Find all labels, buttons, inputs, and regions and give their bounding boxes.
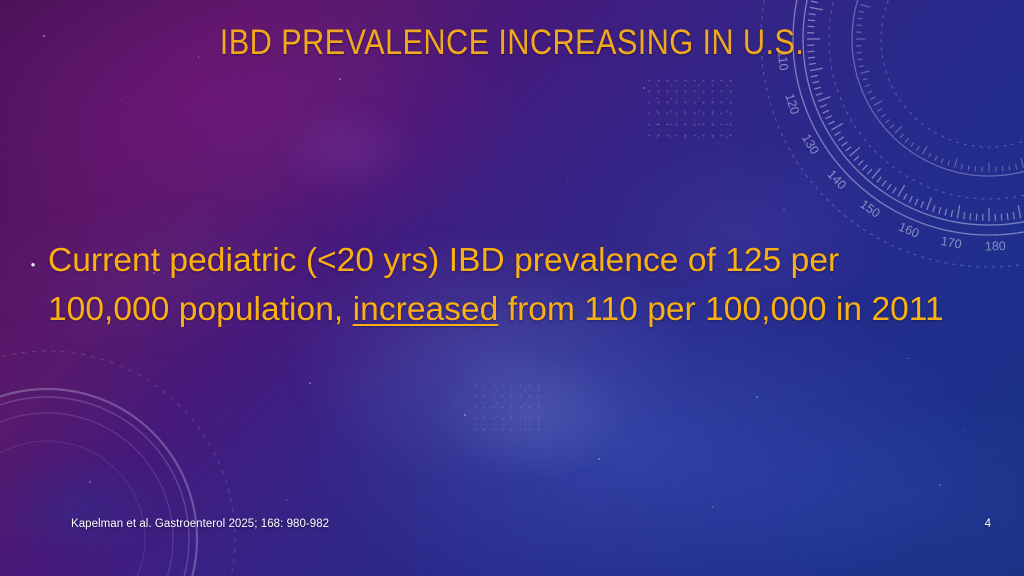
protractor-degree-label: 150 (858, 197, 883, 220)
protractor-degree-label: 140 (825, 167, 849, 192)
concentric-arc-graphic (0, 374, 212, 576)
protractor-degree-label: 120 (782, 92, 802, 116)
list-item: • Current pediatric (<20 yrs) IBD preval… (18, 236, 952, 334)
slide-body: • Current pediatric (<20 yrs) IBD preval… (18, 236, 952, 334)
star-cluster-upper (645, 75, 735, 145)
protractor-degree-label: 180 (985, 239, 1006, 254)
presentation-slide: 110120130140150160170180190 IBD PREV (0, 0, 1024, 576)
bullet-item-text: Current pediatric (<20 yrs) IBD prevalen… (48, 236, 952, 334)
star-cluster-lower (471, 380, 541, 438)
bullet-point-icon: • (18, 236, 48, 271)
slide-page-number: 4 (985, 518, 991, 532)
bullet-text-segment-trailing: from 110 per 100,000 in 2011 (498, 291, 943, 328)
slide-title: IBD PREVALENCE INCREASING IN U.S. (116, 22, 908, 63)
protractor-degree-label: 130 (799, 132, 822, 157)
citation-reference: Kapelman et al. Gastroenterol 2025; 168:… (71, 518, 329, 532)
bullet-text-emphasis-underlined: increased (353, 291, 499, 328)
